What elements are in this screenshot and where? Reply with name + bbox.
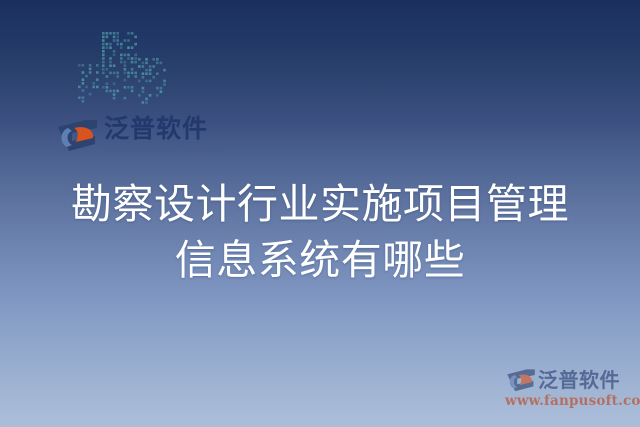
brand-name-cn: 泛普软件: [104, 116, 229, 141]
watermark-name-cn: 泛普软件: [538, 370, 620, 390]
page-title-line-2: 信息系统有哪些: [0, 232, 640, 288]
watermark-url: www.fanpusoft.com: [505, 395, 635, 409]
pixel-skyline-decoration: [76, 28, 172, 112]
fanpu-logo-mark-icon: [55, 118, 97, 152]
page-title-line-1: 勘察设计行业实施项目管理: [0, 176, 640, 232]
watermark: 泛普软件 www.fanpusoft.com: [505, 368, 635, 409]
page-title: 勘察设计行业实施项目管理 信息系统有哪些: [0, 176, 640, 288]
fanpu-logo-mark-icon: [505, 368, 535, 392]
brand-name-en: FANPU SOFTWARE: [104, 146, 229, 156]
brand-logo: 泛普软件 FANPU SOFTWARE: [55, 116, 229, 156]
banner-canvas: 泛普软件 FANPU SOFTWARE 勘察设计行业实施项目管理 信息系统有哪些…: [0, 0, 640, 427]
watermark-logo-row: 泛普软件: [505, 368, 635, 392]
